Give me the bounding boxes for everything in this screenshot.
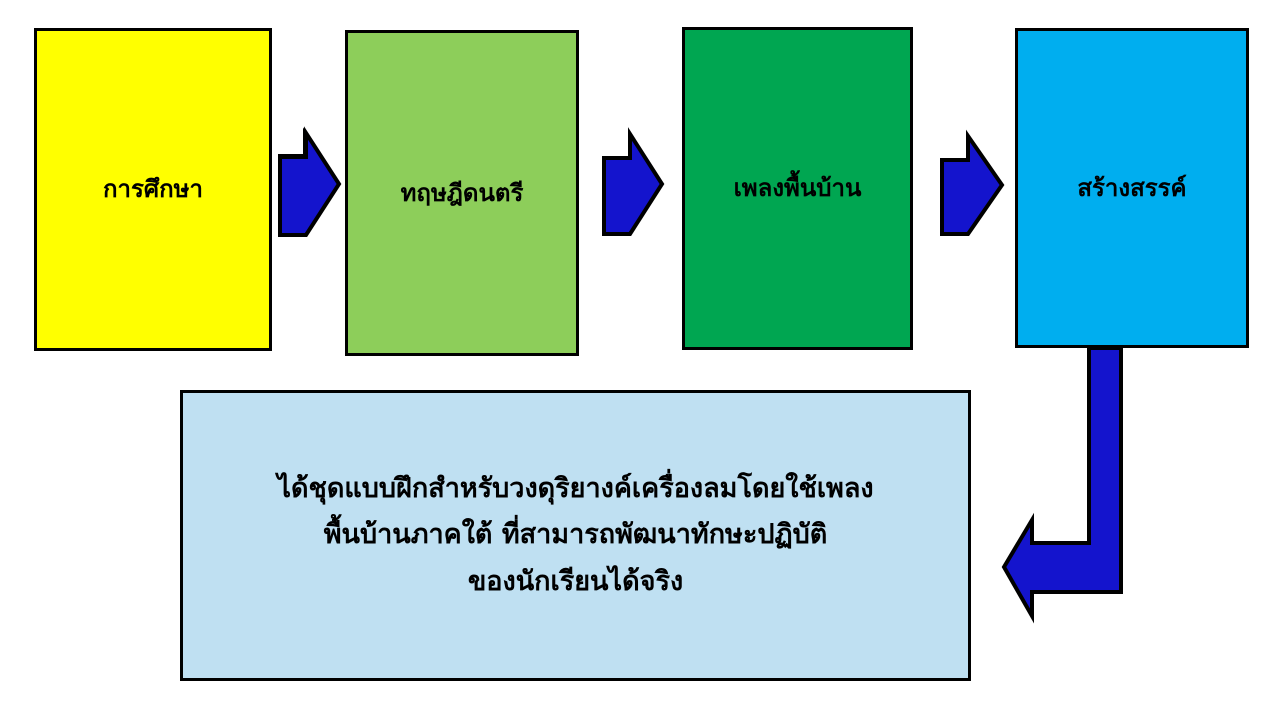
arrow-right-icon-2 <box>604 134 662 234</box>
process-box-education[interactable]: การศึกษา <box>34 28 272 351</box>
arrow-right-icon-1-body <box>280 133 339 235</box>
process-box-education-label: การศึกษา <box>103 173 203 205</box>
outcome-line-1: ได้ชุดแบบฝึกสำหรับวงดุริยางค์เครื่องลมโด… <box>277 466 873 512</box>
process-box-creative[interactable]: สร้างสรรค์ <box>1015 28 1249 348</box>
process-box-folk-song-label: เพลงพื้นบ้าน <box>734 172 862 204</box>
outcome-text: ได้ชุดแบบฝึกสำหรับวงดุริยางค์เครื่องลมโด… <box>277 466 873 605</box>
process-box-folk-song[interactable]: เพลงพื้นบ้าน <box>682 27 913 350</box>
process-box-music-theory[interactable]: ทฤษฎีดนตรี <box>345 30 579 356</box>
process-box-music-theory-label: ทฤษฎีดนตรี <box>401 177 524 209</box>
diagram-canvas: การศึกษา ทฤษฎีดนตรี เพลงพื้นบ้าน สร้างสร… <box>0 0 1280 720</box>
elbow-arrow-down-left-icon <box>1004 348 1121 616</box>
process-box-creative-label: สร้างสรรค์ <box>1077 172 1186 204</box>
arrow-right-icon-1 <box>280 134 338 234</box>
outcome-line-3: ของนักเรียนได้จริง <box>277 559 873 605</box>
arrow-right-icon-3 <box>942 136 1002 234</box>
outcome-box[interactable]: ได้ชุดแบบฝึกสำหรับวงดุริยางค์เครื่องลมโด… <box>180 390 971 681</box>
outcome-line-2: พื้นบ้านภาคใต้ ที่สามารถพัฒนาทักษะปฏิบัต… <box>277 512 873 558</box>
